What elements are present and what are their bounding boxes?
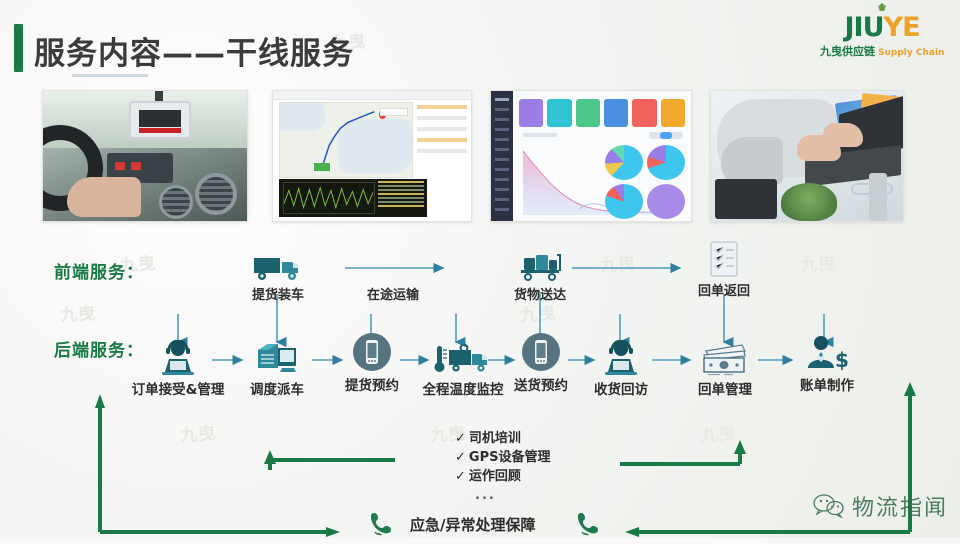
flow-node-bottom-2[interactable]: 提货预约 (336, 336, 408, 394)
flow-caption: 提货预约 (336, 374, 408, 394)
logo-jiu: JIU (844, 12, 883, 43)
slide-root: 九曳 九曳 九曳 九曳 九曳 九曳 九曳 九曳 九曳 服务内容——干线服务 JI… (0, 0, 960, 544)
mobile-phone-icon (505, 336, 577, 372)
support-checklist: ✓司机培训 ✓GPS设备管理 ✓运作回顾 ... (455, 430, 550, 505)
logo-sub-cn: 九曳供应链 (820, 45, 875, 58)
arrow-right-icon (350, 246, 436, 282)
truck-icon (235, 246, 321, 282)
phone-icon (368, 510, 394, 536)
title-underline (72, 74, 148, 77)
photo-strip (42, 90, 922, 222)
flow-node-bottom-0[interactable]: 订单接受&管理 (130, 340, 226, 398)
flow-caption: 全程温度监控 (413, 378, 513, 398)
flow-caption: 提货装车 (235, 284, 321, 303)
check-icon: ✓ (455, 431, 466, 446)
bottom-bar (0, 538, 960, 544)
flow-node-bottom-7[interactable]: $ 账单制作 (788, 336, 866, 394)
wechat-account-name: 物流指闻 (852, 490, 948, 522)
checklist-item: ✓GPS设备管理 (455, 449, 550, 468)
wechat-watermark: 物流指闻 (812, 490, 948, 522)
emergency-phone-right (575, 510, 601, 540)
wechat-icon (812, 493, 846, 519)
flow-caption: 在途运输 (350, 284, 436, 303)
photo-laptop-desk (710, 90, 904, 222)
flow-caption: 货物送达 (497, 284, 583, 303)
logo-sub-en: Supply Chain (878, 48, 944, 58)
logo-wordmark: JIUYE (844, 14, 919, 41)
leaf-icon (876, 3, 889, 14)
svg-text:$: $ (835, 348, 849, 372)
emergency-label: 应急/异常处理保障 (410, 514, 535, 535)
flow-node-bottom-3[interactable]: 全程温度监控 (413, 340, 513, 398)
checklist-item: ✓运作回顾 (455, 468, 550, 487)
flow-caption: 送货预约 (505, 374, 577, 394)
flow-node-top-4[interactable]: 回单返回 (681, 242, 767, 299)
emergency-phone-left (368, 510, 394, 540)
flow-caption: 订单接受&管理 (130, 378, 226, 398)
businessman-dollar-icon: $ (788, 336, 866, 372)
flow-node-top-2[interactable]: 货物送达 (497, 246, 583, 303)
front-service-label: 前端服务： (54, 258, 144, 283)
checklist-label: 司机培训 (469, 431, 521, 446)
checklist-item: ✓司机培训 (455, 430, 550, 449)
flow-caption: 账单制作 (788, 374, 866, 394)
computer-server-icon (240, 340, 314, 376)
mobile-phone-icon (336, 336, 408, 372)
flow-node-bottom-5[interactable]: 收货回访 (585, 340, 657, 398)
page-title: 服务内容——干线服务 (34, 28, 354, 73)
flow-caption: 调度派车 (240, 378, 314, 398)
photo-bi-dashboard (490, 90, 692, 222)
banknotes-icon (686, 340, 764, 376)
flow-node-bottom-6[interactable]: 回单管理 (686, 340, 764, 398)
flow-caption: 收货回访 (585, 378, 657, 398)
operator-headset-icon (130, 340, 226, 376)
checklist-more: ... (475, 487, 550, 506)
checklist-label: GPS设备管理 (469, 450, 551, 465)
check-icon: ✓ (455, 469, 466, 484)
phone-icon (575, 510, 601, 536)
luggage-cart-icon (497, 246, 583, 282)
checklist-label: 运作回顾 (469, 469, 521, 484)
logo-ye: YE (884, 12, 920, 43)
photo-car-dashboard-gps (42, 90, 248, 222)
checklist-doc-icon (681, 242, 767, 278)
photo-gps-map-temperature (272, 90, 472, 222)
flow-node-bottom-1[interactable]: 调度派车 (240, 340, 314, 398)
flow-node-top-0[interactable]: 提货装车 (235, 246, 321, 303)
company-logo: JIUYE 九曳供应链Supply Chain (820, 14, 944, 59)
check-icon: ✓ (455, 450, 466, 465)
flow-node-bottom-4[interactable]: 送货预约 (505, 336, 577, 394)
title-accent-bar (14, 24, 23, 72)
flow-node-top-1[interactable]: 在途运输 (350, 246, 436, 303)
flow-caption: 回单管理 (686, 378, 764, 398)
flow-caption: 回单返回 (681, 280, 767, 299)
thermometer-truck-icon (413, 340, 513, 376)
operator-headset-icon (585, 340, 657, 376)
logo-subtitle: 九曳供应链Supply Chain (820, 43, 944, 59)
